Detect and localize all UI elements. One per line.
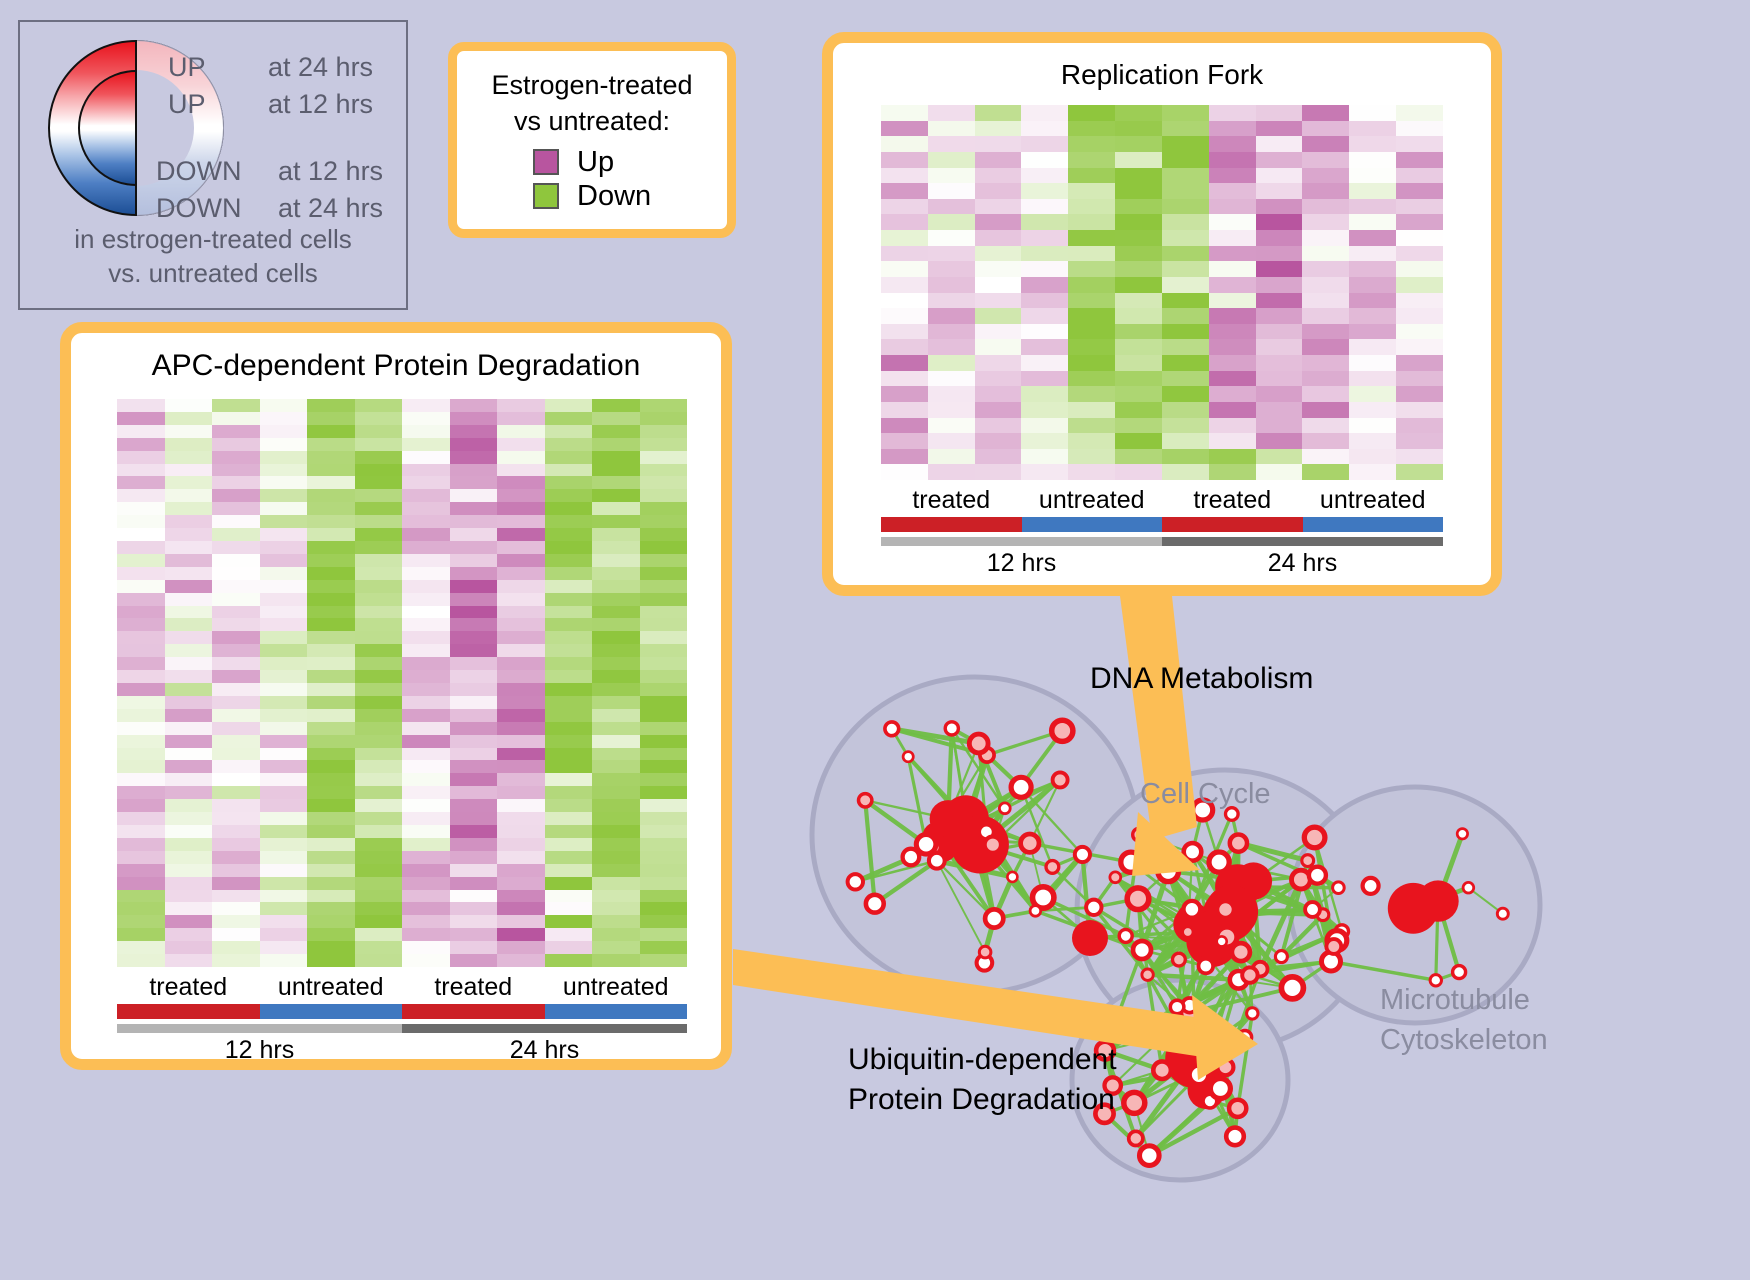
heatmap-cell <box>1302 308 1349 324</box>
heatmap-cell <box>402 812 450 825</box>
heatmap-cell <box>1068 136 1115 152</box>
heatmap-cell <box>212 593 260 606</box>
key-entry-list: Up Down <box>533 147 651 215</box>
heatmap-cell <box>545 799 593 812</box>
heatmap-cell <box>165 554 213 567</box>
heatmap-cell <box>1162 183 1209 199</box>
heatmap-cell <box>212 902 260 915</box>
heatmap-cell <box>402 528 450 541</box>
heatmap-cell <box>1209 355 1256 371</box>
heatmap-cell <box>307 825 355 838</box>
heatmap-cell <box>1256 324 1303 340</box>
heatmap-cell <box>1209 371 1256 387</box>
up-color-swatch <box>533 149 559 175</box>
network-node <box>1463 882 1474 893</box>
heatmap-cell <box>165 618 213 631</box>
network-node <box>1140 1146 1160 1166</box>
network-node <box>916 835 936 855</box>
heatmap-cell <box>1209 183 1256 199</box>
network-node <box>1226 1128 1244 1146</box>
heatmap-cell <box>928 386 975 402</box>
heatmap-cell <box>1021 355 1068 371</box>
heatmap-cell <box>1209 246 1256 262</box>
heatmap-cell <box>260 515 308 528</box>
heatmap-cell <box>212 864 260 877</box>
heatmap-cell <box>1115 199 1162 215</box>
network-node <box>1497 908 1508 919</box>
heatmap-cell <box>355 851 403 864</box>
heatmap-cell <box>545 618 593 631</box>
heatmap-cell <box>1256 168 1303 184</box>
heatmap-cell <box>355 902 403 915</box>
heatmap-cell <box>545 928 593 941</box>
group-labels-apc: treated untreated treated untreated <box>117 973 687 1002</box>
heatmap-cell <box>928 152 975 168</box>
heatmap-cell <box>450 735 498 748</box>
heatmap-cell <box>1349 214 1396 230</box>
heatmap-cell <box>928 402 975 418</box>
heatmap-cell <box>450 580 498 593</box>
key-label-up: Up <box>577 147 614 177</box>
heatmap-cell <box>497 502 545 515</box>
heatmap-cell <box>402 631 450 644</box>
network-node <box>969 734 988 753</box>
heatmap-cell <box>1302 324 1349 340</box>
heatmap-cell <box>1068 308 1115 324</box>
heatmap-cell <box>497 399 545 412</box>
heatmap-cell <box>928 277 975 293</box>
heatmap-cell <box>117 451 165 464</box>
heatmap-cell <box>307 399 355 412</box>
heatmap-cell <box>1162 199 1209 215</box>
heatmap-cell <box>307 606 355 619</box>
heatmap-cell <box>212 915 260 928</box>
heatmap-cell <box>1115 418 1162 434</box>
heatmap-cell <box>117 722 165 735</box>
heatmap-cell <box>117 464 165 477</box>
heatmap-cell <box>975 371 1022 387</box>
heatmap-cell <box>545 760 593 773</box>
heatmap-cell <box>928 121 975 137</box>
heatmap-cell <box>355 825 403 838</box>
heatmap-cell <box>640 580 688 593</box>
heatmap-cell <box>545 696 593 709</box>
heatmap-cell <box>545 722 593 735</box>
heatmap-cell <box>1396 121 1443 137</box>
heatmap-cell <box>928 449 975 465</box>
heatmap-cell <box>1209 433 1256 449</box>
heatmap-cell <box>165 451 213 464</box>
heatmap-cell <box>165 631 213 644</box>
heatmap-cell <box>881 214 928 230</box>
heatmap-cell <box>497 838 545 851</box>
heatmap-cell <box>497 412 545 425</box>
heatmap-cell <box>355 735 403 748</box>
heatmap-cell <box>497 954 545 967</box>
heatmap-cell <box>592 438 640 451</box>
time-labels-apc: 12 hrs 24 hrs <box>117 1036 687 1065</box>
heatmap-cell <box>402 773 450 786</box>
heatmap-cell <box>545 786 593 799</box>
heatmap-cell <box>928 355 975 371</box>
heatmap-cell <box>165 644 213 657</box>
heatmap-cell <box>307 451 355 464</box>
heatmap-cell <box>640 748 688 761</box>
heatmap-cell <box>545 890 593 903</box>
heatmap-cell <box>1209 199 1256 215</box>
heatmap-cell <box>1115 433 1162 449</box>
heatmap-cell <box>1396 183 1443 199</box>
heatmap-cell <box>1068 402 1115 418</box>
heatmap-cell <box>212 476 260 489</box>
heatmap-cell <box>545 528 593 541</box>
heatmap-cell <box>592 425 640 438</box>
heatmap-cell <box>1302 386 1349 402</box>
heatmap-cell <box>165 696 213 709</box>
heatmap-cell <box>307 773 355 786</box>
heatmap-cell <box>1209 136 1256 152</box>
heatmap-cell <box>260 412 308 425</box>
heatmap-cell <box>1209 293 1256 309</box>
heatmap-cell <box>592 812 640 825</box>
heatmap-cell <box>450 606 498 619</box>
heatmap-cell <box>402 554 450 567</box>
heatmap-cell <box>975 230 1022 246</box>
heatmap-cell <box>402 425 450 438</box>
footnote-line-2: vs. untreated cells <box>20 256 406 290</box>
heatmap-cell <box>640 915 688 928</box>
network-node <box>1193 800 1213 820</box>
heatmap-cell <box>1021 464 1068 480</box>
heatmap-cell <box>497 515 545 528</box>
heatmap-cell <box>497 825 545 838</box>
heatmap-cell <box>928 261 975 277</box>
heatmap-cell <box>592 528 640 541</box>
network-diagram <box>790 620 1750 1280</box>
heatmap-cell <box>307 915 355 928</box>
heatmap-cell <box>1162 277 1209 293</box>
heatmap-cell <box>497 890 545 903</box>
network-node <box>1153 1061 1171 1079</box>
heatmap-cell <box>592 877 640 890</box>
heatmap-cell <box>307 890 355 903</box>
heatmap-cell <box>592 825 640 838</box>
heatmap-cell <box>402 476 450 489</box>
heatmap-cell <box>545 773 593 786</box>
heatmap-cell <box>1209 402 1256 418</box>
heatmap-cell <box>928 230 975 246</box>
heatmap-cell <box>640 515 688 528</box>
heatmap-cell <box>450 464 498 477</box>
heatmap-cell <box>497 489 545 502</box>
heatmap-cell <box>1115 402 1162 418</box>
heatmap-cell <box>1396 418 1443 434</box>
network-node <box>1119 929 1132 942</box>
heatmap-cell <box>928 183 975 199</box>
network-node <box>1217 1059 1233 1075</box>
heatmap-cell <box>881 371 928 387</box>
heatmap-cell <box>1068 199 1115 215</box>
heatmap-cell <box>881 324 928 340</box>
network-node <box>1417 880 1458 921</box>
heatmap-cell <box>260 567 308 580</box>
heatmap-cell <box>545 425 593 438</box>
heatmap-cell <box>1256 308 1303 324</box>
heatmap-cell <box>117 799 165 812</box>
network-node <box>1096 1042 1114 1060</box>
heatmap-cell <box>1396 246 1443 262</box>
heatmap-cell <box>1349 168 1396 184</box>
scale-dir-0: UP <box>168 52 206 83</box>
heatmap-cell <box>545 748 593 761</box>
heatmap-cell <box>260 631 308 644</box>
heatmap-cell <box>1349 183 1396 199</box>
scale-time-1: at 12 hrs <box>268 89 373 120</box>
heatmap-cell <box>402 464 450 477</box>
heatmap-cell <box>402 825 450 838</box>
heatmap-cell <box>592 451 640 464</box>
heatmap-cell <box>592 954 640 967</box>
heatmap-cell <box>307 476 355 489</box>
heatmap-cell <box>1302 183 1349 199</box>
network-node <box>1075 847 1090 862</box>
heatmap-cell <box>212 890 260 903</box>
heatmap-cell <box>1349 246 1396 262</box>
heatmap-cell <box>1162 105 1209 121</box>
heatmap-cell <box>355 412 403 425</box>
heatmap-cell <box>307 954 355 967</box>
heatmap-cell <box>450 541 498 554</box>
heatmap-cell <box>307 554 355 567</box>
heatmap-cell <box>402 515 450 528</box>
heatmap-cell <box>1115 261 1162 277</box>
heatmap-cell <box>212 644 260 657</box>
heatmap-cell <box>212 812 260 825</box>
heatmap-cell <box>307 864 355 877</box>
heatmap-cell <box>307 567 355 580</box>
heatmap-cell <box>545 915 593 928</box>
heatmap-cell <box>545 864 593 877</box>
heatmap-cell <box>928 168 975 184</box>
heatmap-cell <box>165 580 213 593</box>
heatmap-cell <box>355 554 403 567</box>
heatmap-cell <box>307 580 355 593</box>
heatmap-cell <box>450 476 498 489</box>
heatmap-cell <box>1302 121 1349 137</box>
heatmap-cell <box>1349 464 1396 480</box>
heatmap-cell <box>1209 121 1256 137</box>
heatmap-cell <box>117 902 165 915</box>
heatmap-cell <box>592 748 640 761</box>
heatmap-cell <box>355 670 403 683</box>
heatmap-cell <box>260 399 308 412</box>
heatmap-cell <box>592 657 640 670</box>
heatmap-cell <box>260 593 308 606</box>
network-node <box>1086 900 1101 915</box>
group-labels-replication-fork: treated untreated treated untreated <box>881 486 1443 515</box>
heatmap-cell <box>450 528 498 541</box>
heatmap-cell <box>545 735 593 748</box>
heatmap-cell <box>545 567 593 580</box>
heatmap-cell <box>355 748 403 761</box>
heatmap-cell <box>497 864 545 877</box>
heatmap-cell <box>545 554 593 567</box>
heatmap-apc-degradation <box>117 399 687 967</box>
heatmap-cell <box>355 657 403 670</box>
heatmap-cell <box>212 838 260 851</box>
heatmap-cell <box>117 567 165 580</box>
heatmap-cell <box>260 709 308 722</box>
heatmap-cell <box>402 954 450 967</box>
heatmap-cell <box>212 683 260 696</box>
heatmap-cell <box>640 877 688 890</box>
heatmap-cell <box>640 838 688 851</box>
heatmap-cell <box>450 425 498 438</box>
network-node <box>903 752 913 762</box>
heatmap-cell <box>1115 277 1162 293</box>
network-node <box>1142 969 1153 980</box>
heatmap-cell <box>307 464 355 477</box>
heatmap-cell <box>402 670 450 683</box>
heatmap-cell <box>355 683 403 696</box>
heatmap-cell <box>1162 355 1209 371</box>
heatmap-cell <box>592 683 640 696</box>
heatmap-cell <box>1396 105 1443 121</box>
heatmap-cell <box>1162 293 1209 309</box>
heatmap-cell <box>1209 324 1256 340</box>
heatmap-cell <box>1021 121 1068 137</box>
heatmap-cell <box>307 735 355 748</box>
key-label-down: Down <box>577 181 651 211</box>
heatmap-cell <box>592 709 640 722</box>
heatmap-cell <box>1302 168 1349 184</box>
heatmap-cell <box>640 541 688 554</box>
heatmap-cell <box>497 438 545 451</box>
heatmap-cell <box>355 618 403 631</box>
heatmap-cell <box>975 168 1022 184</box>
heatmap-cell <box>402 941 450 954</box>
heatmap-cell <box>307 657 355 670</box>
heatmap-cell <box>881 230 928 246</box>
heatmap-cell <box>260 464 308 477</box>
heatmap-cell <box>881 121 928 137</box>
network-node <box>1305 902 1320 917</box>
heatmap-cell <box>117 631 165 644</box>
updown-key-legend: Estrogen-treated vs untreated: Up Down <box>448 42 736 238</box>
heatmap-cell <box>1162 418 1209 434</box>
heatmap-cell <box>975 433 1022 449</box>
heatmap-cell <box>497 593 545 606</box>
heatmap-cell <box>260 554 308 567</box>
heatmap-cell <box>1068 168 1115 184</box>
heatmap-cell <box>545 941 593 954</box>
heatmap-cell <box>545 606 593 619</box>
heatmap-cell <box>1349 308 1396 324</box>
heatmap-cell <box>307 696 355 709</box>
heatmap-cell <box>165 515 213 528</box>
heatmap-cell <box>881 308 928 324</box>
heatmap-cell <box>1021 433 1068 449</box>
heatmap-cell <box>1256 199 1303 215</box>
heatmap-cell <box>881 339 928 355</box>
heatmap-cell <box>260 748 308 761</box>
heatmap-cell <box>640 606 688 619</box>
heatmap-cell <box>881 152 928 168</box>
heatmap-cell <box>1209 418 1256 434</box>
heatmap-cell <box>928 339 975 355</box>
heatmap-cell <box>307 748 355 761</box>
heatmap-cell <box>1349 136 1396 152</box>
heatmap-cell <box>307 812 355 825</box>
heatmap-cell <box>545 593 593 606</box>
heatmap-cell <box>640 722 688 735</box>
heatmap-cell <box>1256 246 1303 262</box>
heatmap-cell <box>355 541 403 554</box>
heatmap-cell <box>1349 339 1396 355</box>
heatmap-cell <box>1256 214 1303 230</box>
heatmap-cell <box>497 580 545 593</box>
heatmap-cell <box>165 425 213 438</box>
heatmap-cell <box>355 773 403 786</box>
axis-replication-fork: treated untreated treated untreated 12 h… <box>881 486 1443 578</box>
heatmap-cell <box>165 838 213 851</box>
heatmap-cell <box>165 799 213 812</box>
heatmap-cell <box>545 399 593 412</box>
heatmap-cell <box>355 425 403 438</box>
heatmap-cell <box>545 877 593 890</box>
heatmap-cell <box>1349 324 1396 340</box>
heatmap-cell <box>355 438 403 451</box>
heatmap-cell <box>165 567 213 580</box>
heatmap-cell <box>881 293 928 309</box>
network-node <box>1457 829 1467 839</box>
colorscale-footnote: in estrogen-treated cells vs. untreated … <box>20 222 406 290</box>
heatmap-cell <box>355 580 403 593</box>
heatmap-cell <box>212 709 260 722</box>
network-node <box>1226 808 1239 821</box>
heatmap-cell <box>260 451 308 464</box>
heatmap-cell <box>1302 339 1349 355</box>
heatmap-cell <box>307 618 355 631</box>
heatmap-cell <box>1068 293 1115 309</box>
heatmap-cell <box>1068 355 1115 371</box>
heatmap-cell <box>881 402 928 418</box>
heatmap-cell <box>212 541 260 554</box>
heatmap-cell <box>117 890 165 903</box>
heatmap-cell <box>640 644 688 657</box>
heatmap-cell <box>1162 230 1209 246</box>
treatment-seg-3 <box>1303 517 1444 532</box>
heatmap-cell <box>640 812 688 825</box>
time-seg-12hrs <box>117 1024 402 1033</box>
heatmap-cell <box>975 324 1022 340</box>
heatmap-cell <box>307 799 355 812</box>
heatmap-cell <box>1256 121 1303 137</box>
heatmap-cell <box>355 476 403 489</box>
heatmap-cell <box>355 399 403 412</box>
heatmap-cell <box>1396 261 1443 277</box>
heatmap-cell <box>355 838 403 851</box>
heatmap-cell <box>592 502 640 515</box>
network-node <box>1333 882 1345 894</box>
heatmap-cell <box>592 631 640 644</box>
heatmap-cell <box>1349 105 1396 121</box>
network-node <box>985 909 1003 927</box>
heatmap-cell <box>307 902 355 915</box>
heatmap-cell <box>975 121 1022 137</box>
heatmap-cell <box>117 644 165 657</box>
heatmap-cell <box>1396 214 1443 230</box>
